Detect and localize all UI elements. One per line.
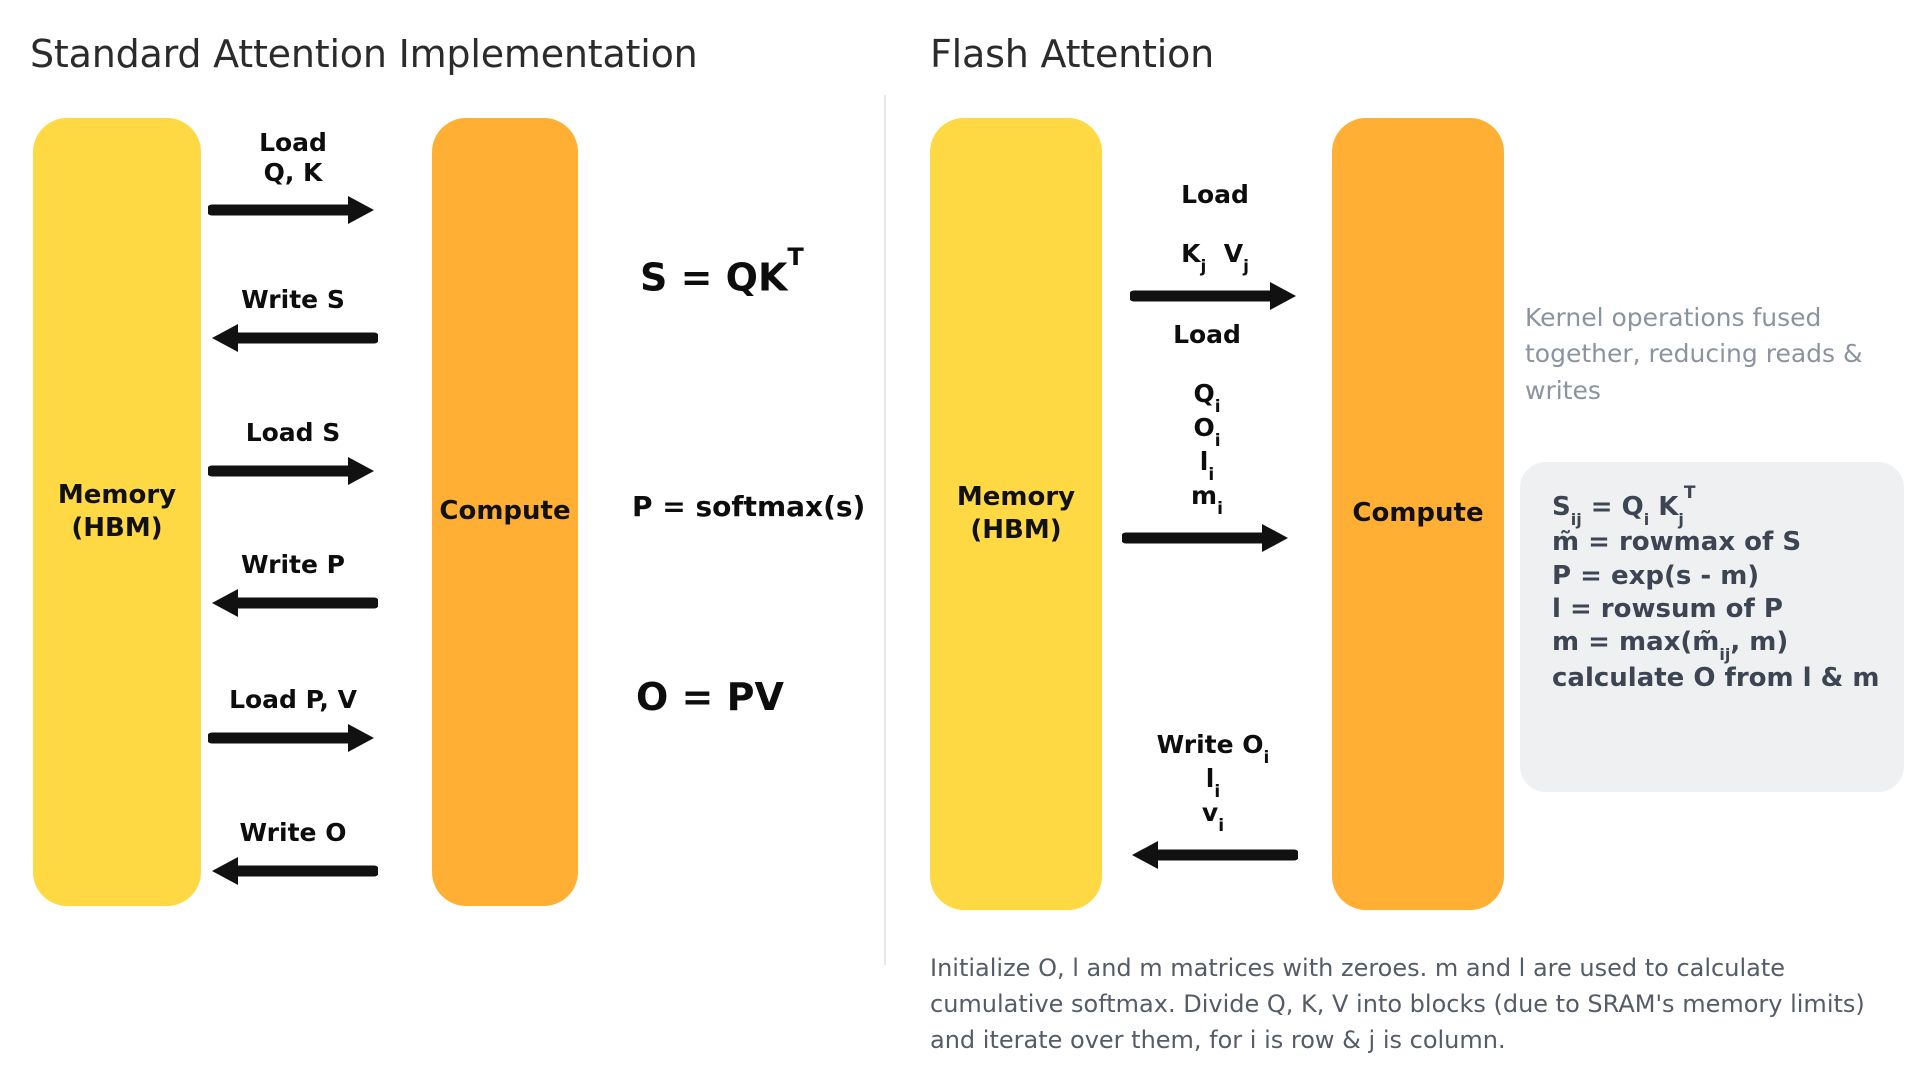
arrow-sub-write-l: i xyxy=(1214,782,1220,802)
arrow-left-icon xyxy=(1128,837,1298,873)
flash-attention-formula-list: Sij = Qi KjT m̃ = rowmax of S P = exp(s … xyxy=(1552,490,1902,695)
arrow-right-icon xyxy=(1122,520,1292,556)
arrow-write-o: Write O xyxy=(208,818,378,889)
formula-line-max: m = max(m̃ij, m) xyxy=(1552,626,1902,662)
arrow-left-icon xyxy=(208,320,378,356)
arrow-left-icon xyxy=(208,585,378,621)
formula-sij-mid2: K xyxy=(1649,492,1678,522)
formula-sij-sub2: i xyxy=(1644,510,1649,529)
arrow-load-qk: Load Q, K xyxy=(208,128,378,228)
formula-s-equals-qkt: S = QKT xyxy=(640,255,804,300)
page-title-standard-attention: Standard Attention Implementation xyxy=(30,32,698,76)
formula-max-pre: m = max(m̃ xyxy=(1552,627,1719,657)
formula-line-rowmax: m̃ = rowmax of S xyxy=(1552,526,1902,559)
flash-attention-caption: Initialize O, l and m matrices with zero… xyxy=(930,950,1915,1058)
formula-line-exp: P = exp(s - m) xyxy=(1552,560,1902,593)
arrow-right-icon xyxy=(208,192,378,228)
arrow-write-s-label: Write S xyxy=(241,285,345,315)
arrow-sub-k: j xyxy=(1200,257,1206,277)
arrow-load-kj-vj-label: Load Kj Vj xyxy=(1181,150,1249,273)
arrow-sub-write-v: i xyxy=(1218,816,1224,836)
memory-block-left-label: Memory (HBM) xyxy=(58,479,176,546)
formula-sij-sup: T xyxy=(1684,483,1696,503)
arrow-load-kj-vj: Load Kj Vj xyxy=(1130,150,1300,314)
memory-block-right-label: Memory (HBM) xyxy=(957,481,1075,548)
arrow-load-pv: Load P, V xyxy=(208,685,378,756)
arrow-sub-q: i xyxy=(1215,397,1221,417)
compute-block-right-label: Compute xyxy=(1352,497,1483,530)
arrow-write-o-label: Write O xyxy=(240,818,347,848)
kernel-operations-note: Kernel operations fused together, reduci… xyxy=(1525,300,1885,409)
formula-sij-sub3: j xyxy=(1678,510,1683,529)
arrow-line1: Load xyxy=(1173,320,1241,349)
formula-line-rowsum: l = rowsum of P xyxy=(1552,593,1902,626)
arrow-token-k: K xyxy=(1181,239,1200,268)
page-title-flash-attention: Flash Attention xyxy=(930,32,1214,76)
compute-block-right: Compute xyxy=(1332,118,1504,910)
arrow-load-qi-oi-li-mi-label: Load Qi Oi li mi xyxy=(1173,290,1241,515)
arrow-line1: Load xyxy=(1181,180,1249,209)
formula-line-calculate-o: calculate O from l & m xyxy=(1552,662,1902,695)
compute-block-left: Compute xyxy=(432,118,578,906)
arrow-sub-write-o: i xyxy=(1264,748,1270,768)
arrow-load-qk-label: Load Q, K xyxy=(259,128,327,187)
arrow-token-o: O xyxy=(1193,413,1214,442)
arrow-write-oi-li-vi: Write Oi li vi xyxy=(1128,700,1298,873)
arrow-sub-o: i xyxy=(1215,431,1221,451)
memory-block-left: Memory (HBM) xyxy=(33,118,201,906)
arrow-token-q: Q xyxy=(1193,379,1214,408)
formula-sij-mid: = Q xyxy=(1582,492,1644,522)
formula-max-sub: ij xyxy=(1719,645,1730,664)
arrow-load-pv-label: Load P, V xyxy=(229,685,357,715)
arrow-write-p-label: Write P xyxy=(241,550,345,580)
arrow-write-p: Write P xyxy=(208,550,378,621)
formula-sij-S: S xyxy=(1552,492,1571,522)
formula-sij-sub1: ij xyxy=(1571,510,1582,529)
arrow-left-icon xyxy=(208,853,378,889)
arrow-sub-l: i xyxy=(1208,465,1214,485)
arrow-token-v: V xyxy=(1224,239,1243,268)
formula-s-base: S = QK xyxy=(640,256,787,300)
compute-block-left-label: Compute xyxy=(439,495,570,528)
formula-o-equals-pv: O = PV xyxy=(636,675,784,719)
panel-divider xyxy=(884,95,886,965)
formula-max-post: , m) xyxy=(1730,627,1788,657)
arrow-load-qi-oi-li-mi: Load Qi Oi li mi xyxy=(1122,290,1292,556)
formula-s-superscript: T xyxy=(787,243,803,271)
formula-line-sij: Sij = Qi KjT xyxy=(1552,490,1902,526)
arrow-load-s-label: Load S xyxy=(246,418,341,448)
arrow-right-icon xyxy=(208,453,378,489)
memory-block-right: Memory (HBM) xyxy=(930,118,1102,910)
arrow-token-write-o: Write O xyxy=(1157,730,1264,759)
arrow-sub-m: i xyxy=(1217,499,1223,519)
arrow-load-s: Load S xyxy=(208,418,378,489)
arrow-sub-v: j xyxy=(1243,257,1249,277)
formula-p-equals-softmax: P = softmax(s) xyxy=(632,490,865,523)
arrow-right-icon xyxy=(208,720,378,756)
arrow-write-s: Write S xyxy=(208,285,378,356)
arrow-write-oi-li-vi-label: Write Oi li vi xyxy=(1157,700,1270,832)
